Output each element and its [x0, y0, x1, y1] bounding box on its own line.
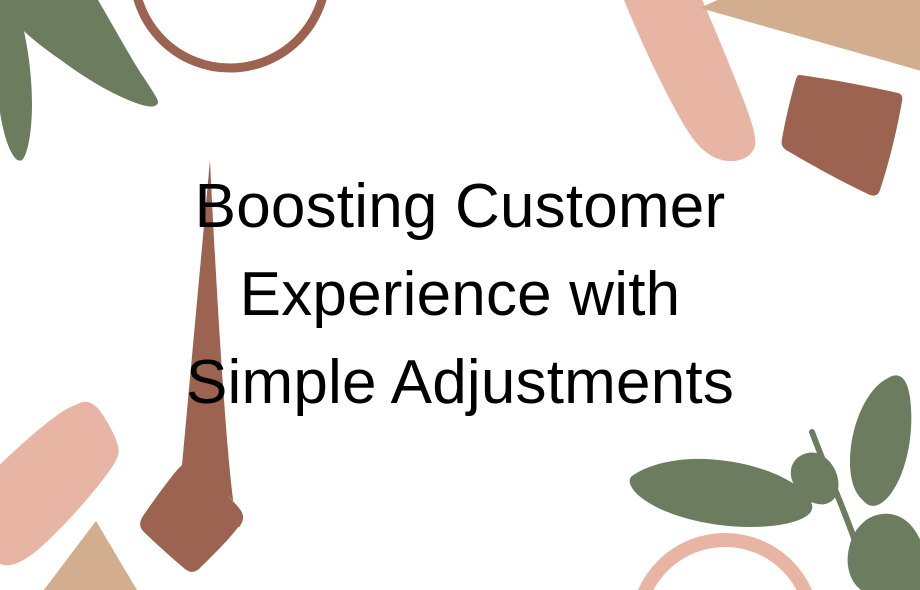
poster-title: Boosting Customer Experience with Simple…	[0, 0, 920, 590]
poster-canvas: Boosting Customer Experience with Simple…	[0, 0, 920, 590]
title-line-3: Simple Adjustments	[186, 339, 734, 427]
title-line-2: Experience with	[240, 251, 681, 339]
title-line-1: Boosting Customer	[195, 163, 726, 251]
